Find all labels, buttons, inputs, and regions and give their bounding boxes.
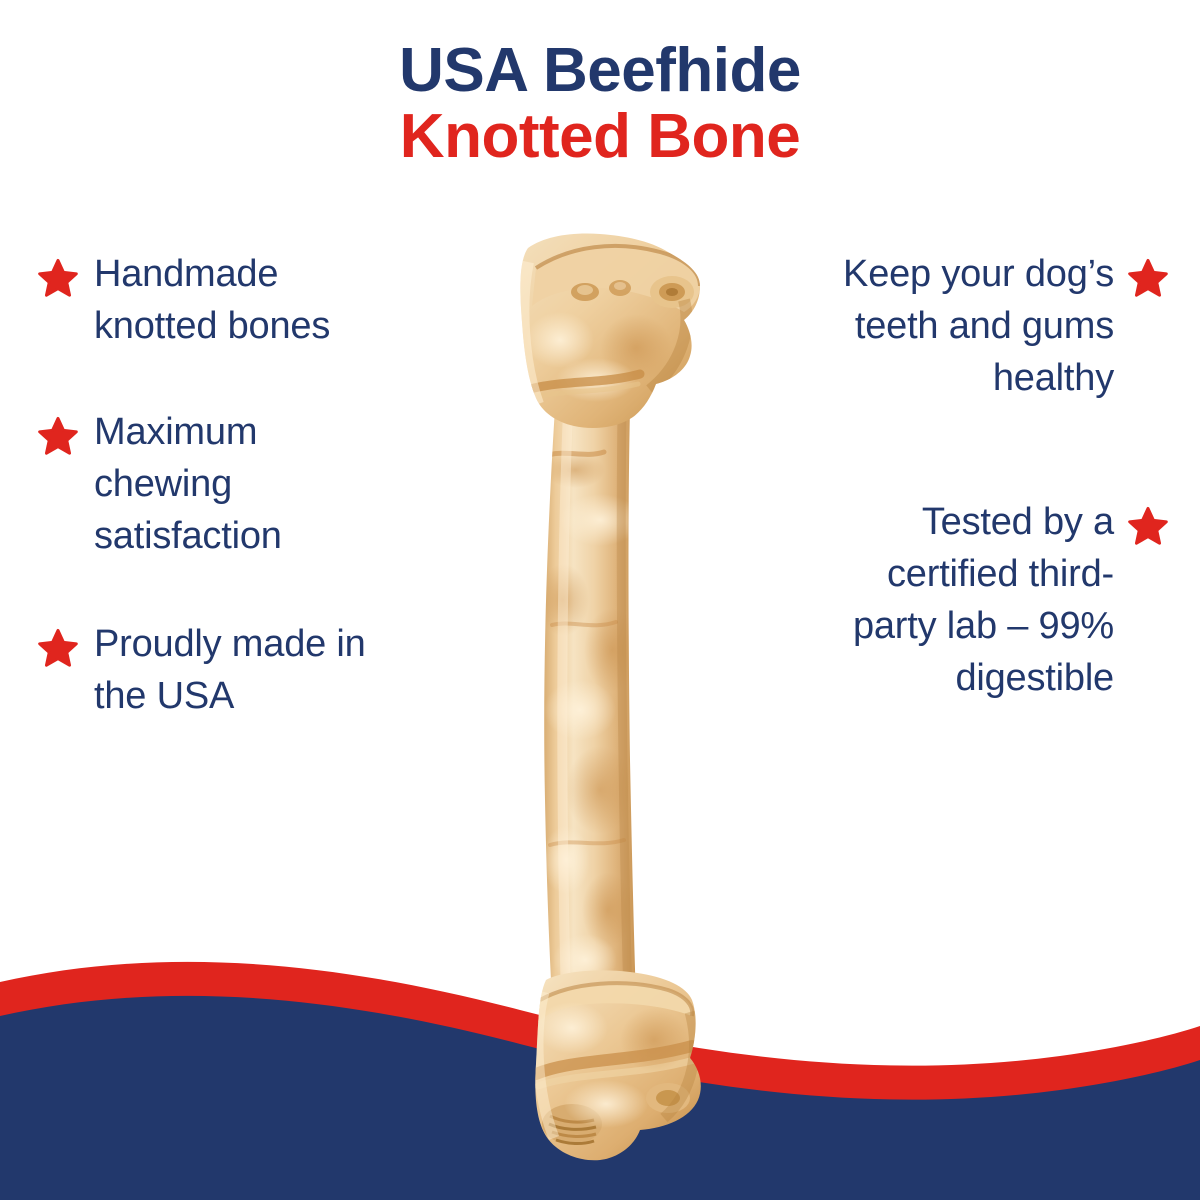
product-feature-card: USA Beefhide Knotted Bone Handmade knott…	[0, 0, 1200, 1200]
bone-shaft	[537, 408, 640, 1000]
feature-item: Tested by a certified third-party lab – …	[816, 496, 1176, 704]
star-icon	[1120, 248, 1176, 404]
feature-item: Maximum chewing satisfaction	[30, 406, 390, 562]
feature-text: Maximum chewing satisfaction	[94, 406, 390, 562]
feature-text: Tested by a certified third-party lab – …	[816, 496, 1114, 704]
wave-navy-fill	[0, 996, 1200, 1200]
feature-text: Keep your dog’s teeth and gums healthy	[816, 248, 1114, 404]
feature-item: Handmade knotted bones	[30, 248, 390, 352]
star-icon	[1120, 496, 1176, 704]
feature-list-left: Handmade knotted bones Maximum chewing s…	[30, 248, 390, 768]
bone-top-knot	[520, 234, 700, 428]
feature-text: Proudly made in the USA	[94, 618, 390, 722]
feature-item: Keep your dog’s teeth and gums healthy	[816, 248, 1176, 404]
star-icon	[30, 618, 86, 722]
wave-banner	[0, 940, 1200, 1200]
feature-item: Proudly made in the USA	[30, 618, 390, 722]
star-icon	[30, 406, 86, 562]
star-icon	[30, 248, 86, 352]
feature-text: Handmade knotted bones	[94, 248, 390, 352]
title-line-secondary: Knotted Bone	[0, 104, 1200, 170]
title-line-primary: USA Beefhide	[0, 38, 1200, 104]
page-title: USA Beefhide Knotted Bone	[0, 38, 1200, 169]
feature-list-right: Keep your dog’s teeth and gums healthy T…	[816, 248, 1176, 750]
